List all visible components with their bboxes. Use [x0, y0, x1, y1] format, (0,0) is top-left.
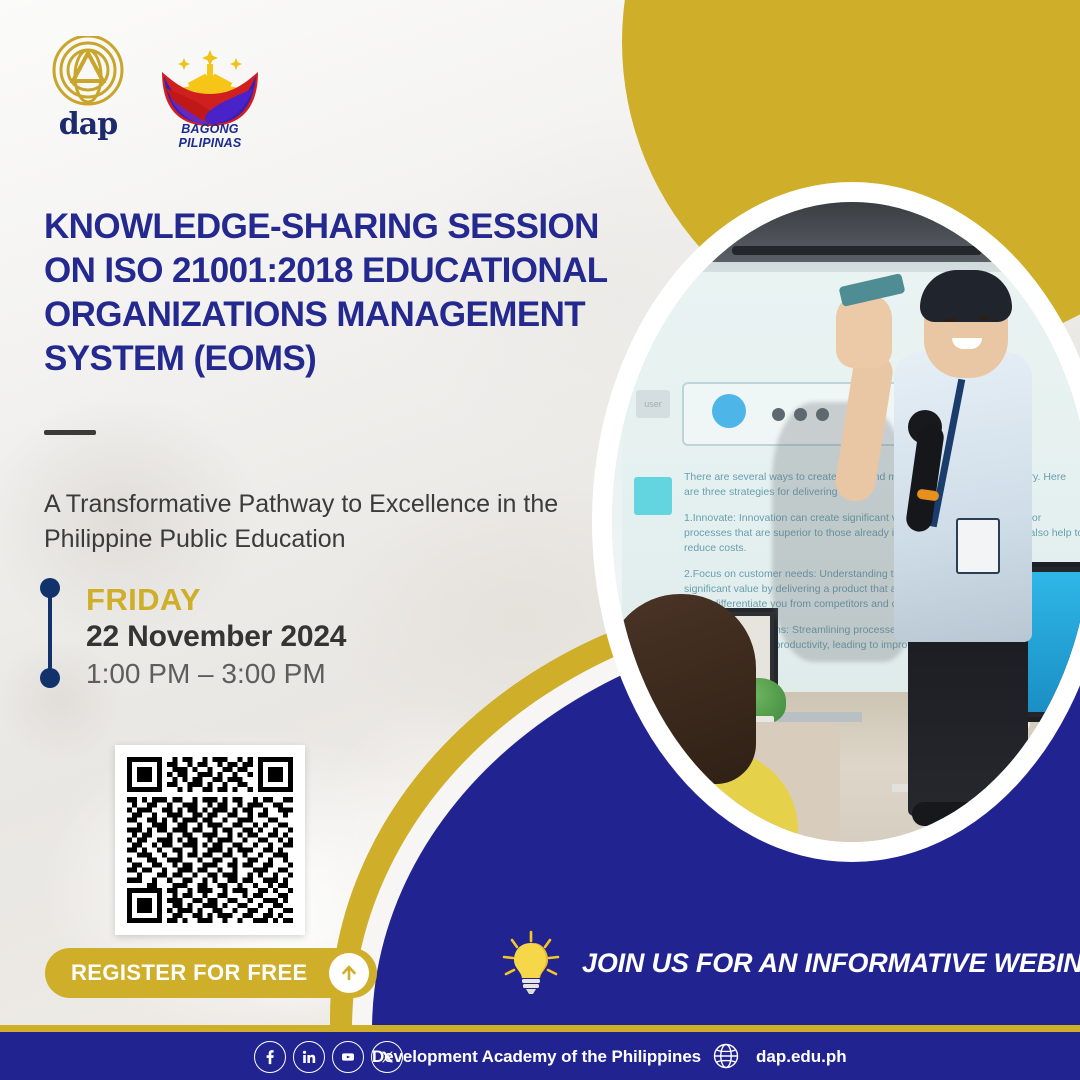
- webinar-poster: user There are several ways to create va…: [0, 0, 1080, 1080]
- event-date: 22 November 2024: [86, 618, 346, 656]
- bagong-pilipinas-emblem-icon: [152, 36, 268, 126]
- dap-ripple-icon: [52, 36, 124, 108]
- register-button-label: REGISTER FOR FREE: [71, 960, 308, 986]
- facebook-icon[interactable]: [254, 1041, 286, 1073]
- photo-speaker-shoe: [912, 802, 1008, 826]
- qr-code-image: [127, 757, 293, 923]
- bagong-pilipinas-logo: BAGONG PILIPINAS: [152, 36, 268, 142]
- footer-bar: Development Academy of the Philippines d…: [0, 1032, 1080, 1080]
- qr-code[interactable]: [115, 745, 305, 935]
- marker-dot-bottom: [40, 668, 60, 688]
- footer-organization: Development Academy of the Philippines: [372, 1047, 701, 1067]
- logo-row: dap: [44, 36, 268, 142]
- slide-avatar-icon: [712, 394, 746, 428]
- schedule-marker: [40, 578, 60, 688]
- photo-audience-head: [612, 594, 756, 784]
- webinar-cta-text: JOIN US FOR AN INFORMATIVE WEBINAR!: [582, 948, 1080, 979]
- footer-gold-divider: [0, 1025, 1080, 1032]
- photo-speaker-eye: [978, 316, 990, 320]
- schedule-block: FRIDAY 22 November 2024 1:00 PM – 3:00 P…: [86, 582, 346, 692]
- photo-speaker-badge: [956, 518, 1000, 574]
- marker-line: [48, 586, 52, 680]
- photo-audience-hand: [1028, 758, 1080, 804]
- slide-typing-dot: [772, 408, 785, 421]
- dap-wordmark: dap: [48, 110, 128, 140]
- dap-logo: dap: [44, 36, 130, 142]
- linkedin-icon[interactable]: [293, 1041, 325, 1073]
- bagong-pilipinas-wordmark: BAGONG PILIPINAS: [152, 122, 268, 150]
- page-title: KNOWLEDGE-SHARING SESSION ON ISO 21001:2…: [44, 205, 644, 381]
- arrow-up-icon: [329, 953, 369, 993]
- slide-user-tag: user: [636, 390, 670, 418]
- lightbulb-icon: [500, 930, 562, 996]
- page-subtitle: A Transformative Pathway to Excellence i…: [44, 487, 584, 557]
- event-day: FRIDAY: [86, 582, 346, 618]
- register-button[interactable]: REGISTER FOR FREE: [45, 948, 377, 998]
- event-time: 1:00 PM – 3:00 PM: [86, 656, 346, 692]
- photo-speaker-hair: [920, 270, 1012, 322]
- speaker-photo: user There are several ways to create va…: [612, 202, 1080, 842]
- globe-icon: [712, 1042, 740, 1070]
- photo-speaker-eye: [944, 318, 956, 322]
- footer-website: dap.edu.ph: [756, 1047, 847, 1067]
- title-divider: [44, 430, 96, 435]
- slide-lightbulb-icon: [634, 477, 672, 515]
- youtube-icon[interactable]: [332, 1041, 364, 1073]
- photo-ceiling-light: [732, 246, 982, 255]
- photo-speaker-legs: [908, 626, 1028, 816]
